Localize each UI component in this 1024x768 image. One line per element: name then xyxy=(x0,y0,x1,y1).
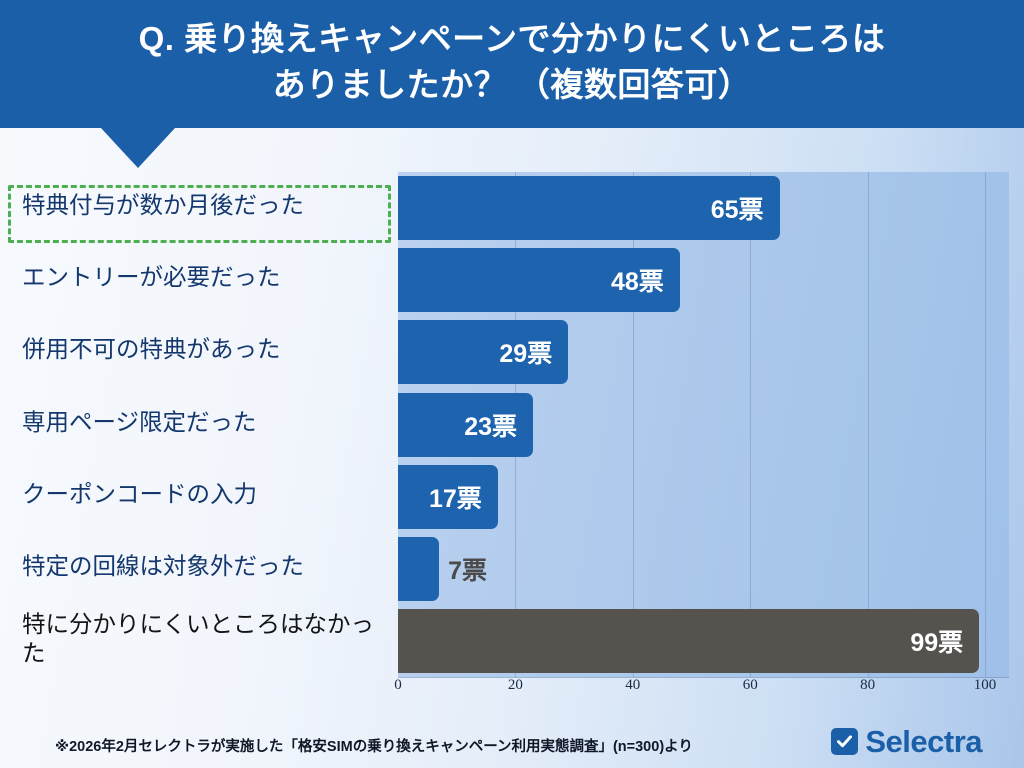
bar-5: 17票 xyxy=(398,465,498,529)
check-square-icon xyxy=(831,728,858,755)
bar-value-label-5: 17票 xyxy=(429,479,498,515)
bar-4: 23票 xyxy=(398,393,533,457)
x-tick-40: 40 xyxy=(625,677,640,694)
x-tick-60: 60 xyxy=(743,677,758,694)
header-banner: Q. 乗り換えキャンペーンで分かりにくいところは ありましたか？ （複数回答可） xyxy=(0,0,1024,128)
category-label-7: 特に分かりにくいところはなかった xyxy=(22,611,392,668)
x-tick-20: 20 xyxy=(508,677,523,694)
bar-value-label-2: 48票 xyxy=(611,262,680,298)
gridline xyxy=(750,172,751,677)
x-axis-ticks: 020406080100 xyxy=(0,677,1024,703)
x-tick-0: 0 xyxy=(394,677,402,694)
category-label-1: 特典付与が数か月後だった xyxy=(22,192,392,221)
category-label-3: 併用不可の特典があった xyxy=(22,336,392,365)
bar-chart: 特典付与が数か月後だった65票エントリーが必要だった48票併用不可の特典があった… xyxy=(0,172,1024,690)
gridline xyxy=(985,172,986,677)
bar-7: 99票 xyxy=(398,609,979,673)
x-tick-80: 80 xyxy=(860,677,875,694)
bar-2: 48票 xyxy=(398,248,680,312)
category-label-2: エントリーが必要だった xyxy=(22,264,392,293)
bar-value-label-3: 29票 xyxy=(499,334,568,370)
category-label-4: 専用ページ限定だった xyxy=(22,409,392,438)
header-pointer-triangle xyxy=(101,128,175,168)
logo-wordmark: Selectra xyxy=(865,726,982,757)
source-note: ※2026年2月セレクトラが実施した「格安SIMの乗り換えキャンペーン利用実態調… xyxy=(55,735,693,756)
bar-value-label-7: 99票 xyxy=(910,623,979,659)
bar-value-label-1: 65票 xyxy=(711,190,780,226)
bar-value-label-6: 7票 xyxy=(439,551,487,587)
category-label-6: 特定の回線は対象外だった xyxy=(22,553,392,582)
category-label-5: クーポンコードの入力 xyxy=(22,481,392,510)
bar-1: 65票 xyxy=(398,176,780,240)
page-title: Q. 乗り換えキャンペーンで分かりにくいところは ありましたか？ （複数回答可） xyxy=(139,16,886,107)
selectra-logo[interactable]: Selectra xyxy=(831,726,982,757)
bar-6: 7票 xyxy=(398,537,439,601)
infographic-page: Q. 乗り換えキャンペーンで分かりにくいところは ありましたか？ （複数回答可）… xyxy=(0,0,1024,768)
x-tick-100: 100 xyxy=(974,677,997,694)
bar-value-label-4: 23票 xyxy=(464,407,533,443)
bar-3: 29票 xyxy=(398,320,568,384)
gridline xyxy=(868,172,869,677)
